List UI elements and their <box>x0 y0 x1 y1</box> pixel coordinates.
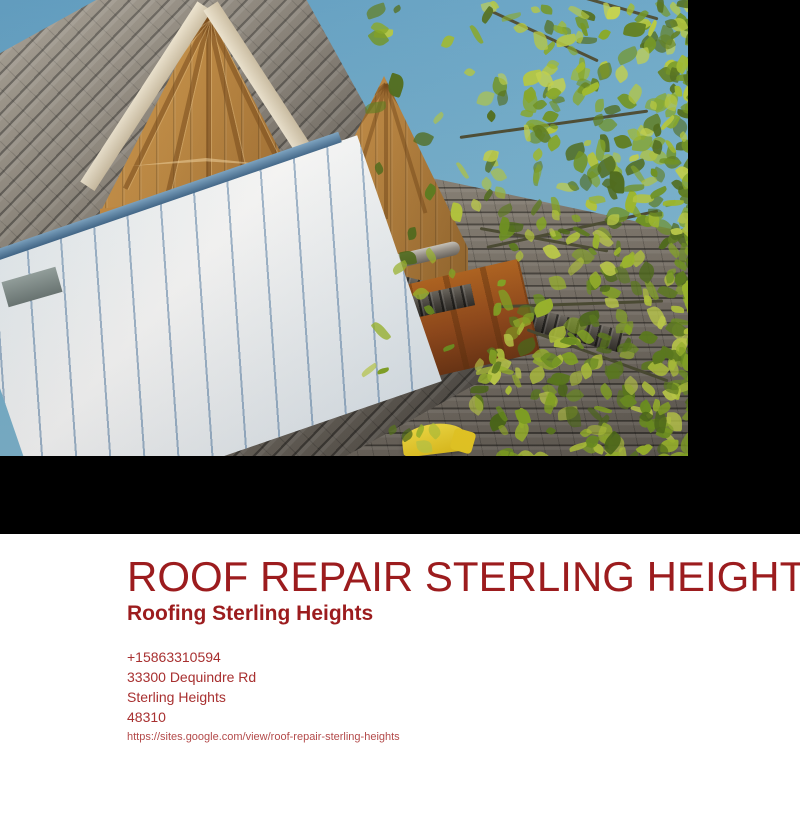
photo-color-grade <box>0 0 688 456</box>
contact-line: +15863310594 <box>127 647 256 667</box>
page-root: ROOF REPAIR STERLING HEIGHTS Roofing Ste… <box>0 0 800 840</box>
website-link[interactable]: https://sites.google.com/view/roof-repai… <box>127 730 400 744</box>
page-title: ROOF REPAIR STERLING HEIGHTS <box>127 554 800 600</box>
contact-line: 48310 <box>127 707 256 727</box>
hero-photo <box>0 0 688 456</box>
contact-line: Sterling Heights <box>127 687 256 707</box>
contact-details: +1586331059433300 Dequindre RdSterling H… <box>127 647 256 727</box>
hero-banner <box>0 0 800 534</box>
contact-line: 33300 Dequindre Rd <box>127 667 256 687</box>
page-subtitle: Roofing Sterling Heights <box>127 601 373 627</box>
